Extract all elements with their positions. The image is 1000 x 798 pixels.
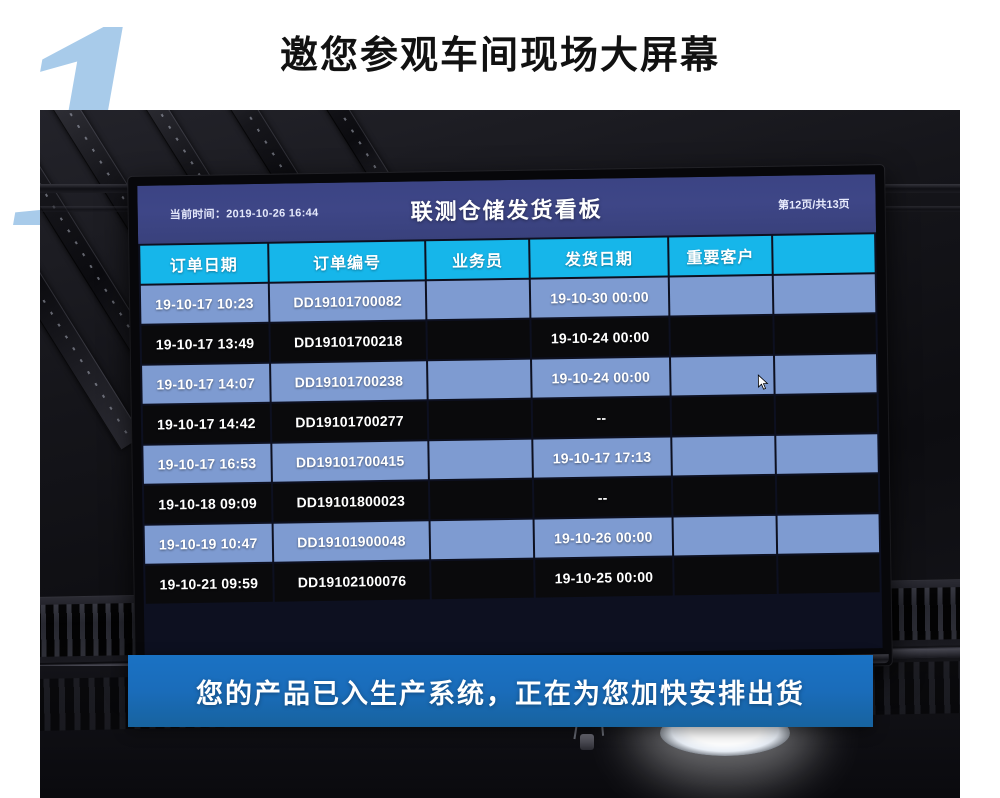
cell-order-date: 19-10-17 10:23	[141, 284, 268, 324]
dashboard-screen: 当前时间：2019-10-26 16:44 联测仓储发货看板 第12页/共13页…	[137, 174, 882, 660]
cell-sales-rep	[428, 360, 530, 400]
column-header-ship-date: 发货日期	[530, 238, 668, 278]
cell-order-date: 19-10-19 10:47	[145, 524, 272, 564]
cell-key-customer	[671, 316, 773, 356]
wall-mounted-tv: 当前时间：2019-10-26 16:44 联测仓储发货看板 第12页/共13页…	[128, 165, 892, 677]
cell-ship-date: 19-10-24 00:00	[532, 357, 670, 397]
cell-sales-rep	[431, 520, 533, 560]
cell-key-customer	[672, 396, 774, 436]
cell-order-no: DD19102100076	[274, 561, 430, 601]
cell-extra	[774, 314, 876, 354]
cell-order-date: 19-10-17 16:53	[143, 444, 270, 484]
cell-extra	[776, 434, 878, 474]
wire-fixture	[580, 734, 594, 750]
cell-ship-date: 19-10-24 00:00	[531, 317, 669, 357]
cell-ship-date: 19-10-30 00:00	[530, 278, 668, 318]
cell-extra	[777, 474, 879, 514]
cell-ship-date: 19-10-25 00:00	[535, 557, 673, 597]
cell-order-no: DD19101700415	[272, 441, 428, 481]
cell-sales-rep	[429, 400, 531, 440]
page-indicator: 第12页/共13页	[778, 196, 850, 213]
cell-order-date: 19-10-21 09:59	[145, 564, 272, 604]
column-header-sales-rep: 业务员	[427, 240, 529, 280]
cell-extra	[775, 354, 877, 394]
cell-order-date: 19-10-17 14:42	[143, 404, 270, 444]
cell-extra	[773, 274, 875, 314]
cell-order-no: DD19101700277	[271, 401, 427, 441]
shipment-table: 订单日期 订单编号 业务员 发货日期 重要客户 19-10-17 10:23 D…	[138, 232, 882, 606]
dashboard-header: 当前时间：2019-10-26 16:44 联测仓储发货看板 第12页/共13页	[137, 174, 876, 244]
cell-key-customer	[673, 436, 775, 476]
cell-extra	[777, 514, 879, 554]
column-header-order-date: 订单日期	[140, 244, 267, 284]
cell-key-customer	[674, 516, 776, 556]
cell-ship-date: --	[532, 397, 670, 437]
cell-sales-rep	[427, 280, 529, 320]
cell-key-customer	[671, 356, 773, 396]
cell-ship-date: 19-10-26 00:00	[534, 517, 672, 557]
cell-order-no: DD19101700082	[270, 281, 426, 321]
cell-key-customer	[674, 556, 776, 596]
cell-extra	[775, 394, 877, 434]
cell-ship-date: 19-10-17 17:13	[533, 437, 671, 477]
cell-order-date: 19-10-17 13:49	[141, 324, 268, 364]
column-header-extra	[773, 234, 875, 274]
current-time-label: 当前时间：2019-10-26 16:44	[170, 204, 319, 222]
page-title: 邀您参观车间现场大屏幕	[0, 24, 1000, 79]
cell-sales-rep	[430, 440, 532, 480]
column-header-order-no: 订单编号	[269, 241, 425, 281]
cell-order-no: DD19101700218	[270, 321, 426, 361]
cell-sales-rep	[432, 560, 534, 600]
cell-order-no: DD19101800023	[273, 481, 429, 521]
promo-page: 1 邀您参观车间现场大屏幕	[0, 0, 1000, 798]
cell-key-customer	[673, 476, 775, 516]
cell-sales-rep	[430, 480, 532, 520]
cell-extra	[778, 554, 880, 594]
cell-sales-rep	[428, 320, 530, 360]
promo-banner-text: 您的产品已入生产系统，正在为您加快安排出货	[196, 672, 805, 711]
cell-ship-date: --	[534, 477, 672, 517]
cell-order-date: 19-10-17 14:07	[142, 364, 269, 404]
cell-order-date: 19-10-18 09:09	[144, 484, 271, 524]
cell-order-no: DD19101700238	[271, 361, 427, 401]
column-header-key-customer: 重要客户	[669, 236, 771, 276]
promo-banner: 您的产品已入生产系统，正在为您加快安排出货	[128, 655, 873, 727]
cell-key-customer	[670, 276, 772, 316]
cell-order-no: DD19101900048	[273, 521, 429, 561]
